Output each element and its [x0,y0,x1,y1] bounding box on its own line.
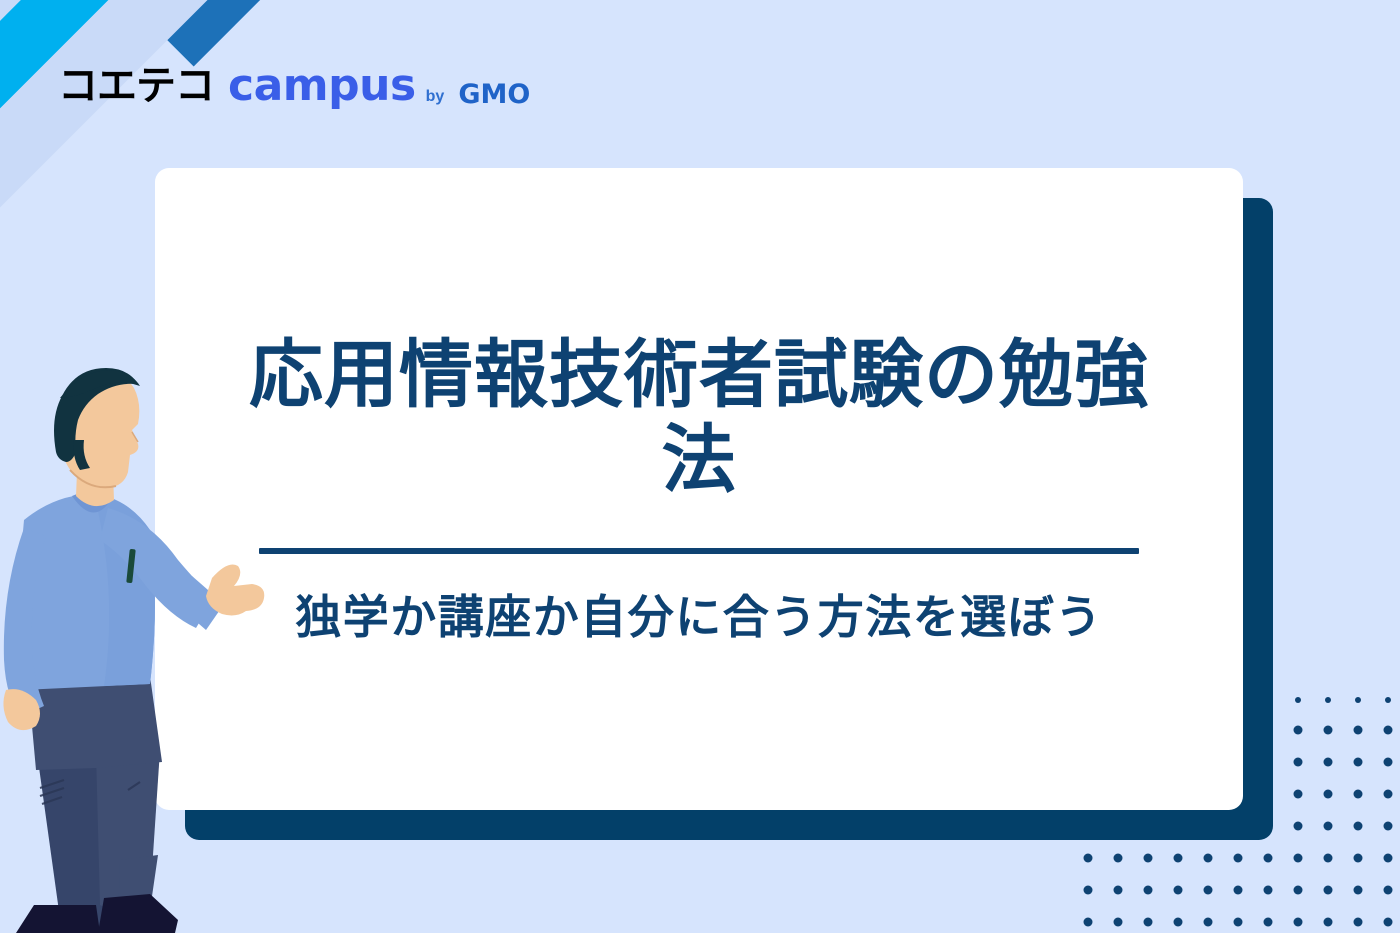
nose-line [132,432,138,442]
logo-campus-text: campus [228,64,416,108]
left-hand [3,689,40,730]
page-title: 応用情報技術者試験の勉強法 [189,333,1209,505]
logo-japanese-text: コエテコ [58,66,214,106]
logo-by-text: by [426,88,445,112]
back-shoe [16,905,100,933]
pants-hip [28,676,162,770]
sweater-shade [94,494,155,686]
front-shoe [98,894,178,933]
left-arm [4,528,46,716]
poster-canvas: コエテコ campus by GMO 応用情報技術者試験の勉強法 独学か講座か自… [0,0,1400,933]
neck [76,446,114,506]
face [61,372,140,488]
front-leg-upper [96,750,160,915]
hair [54,368,138,462]
pants-crease-lines [40,780,140,804]
jaw-line [70,470,116,487]
sweater-body [19,494,155,690]
hair-top [60,370,140,398]
stripes-top-right-accent [10,0,1400,66]
title-divider [259,548,1139,554]
page-subtitle: 独学か講座か自分に合う方法を選ぼう [295,590,1103,645]
title-card: 応用情報技術者試験の勉強法 独学か講座か自分に合う方法を選ぼう [155,168,1243,810]
logo-gmo-text: GMO [458,79,530,112]
site-logo[interactable]: コエテコ campus by GMO [58,60,530,112]
pocket-pen [126,549,136,583]
collar [72,492,112,513]
sideburn [74,440,90,470]
front-leg-lower [118,855,158,918]
back-leg [38,758,118,933]
